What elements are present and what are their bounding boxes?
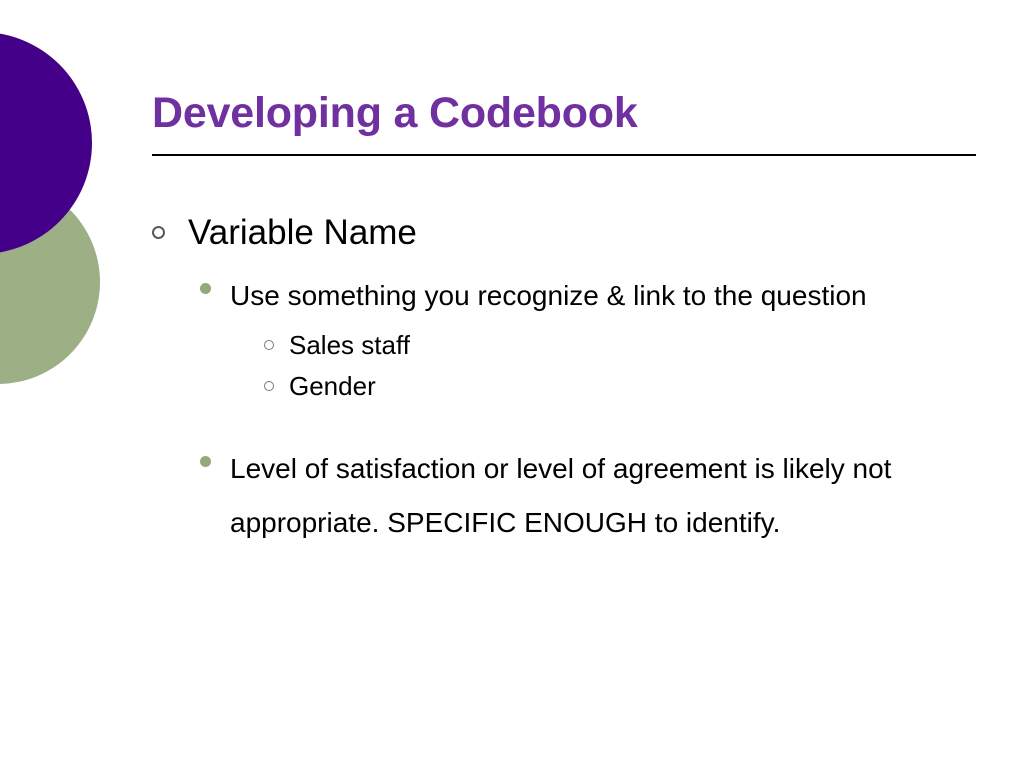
list-item-level3-label: Gender bbox=[289, 370, 376, 403]
list-item-level2-second-label: Level of satisfaction or level of agreem… bbox=[230, 442, 954, 550]
decorative-purple-circle bbox=[0, 32, 92, 254]
list-item-level3: Sales staff bbox=[264, 329, 982, 362]
list-item-level3-label: Sales staff bbox=[289, 329, 410, 362]
slide-canvas: Developing a Codebook Variable Name Use … bbox=[0, 0, 1024, 768]
list-item-level2-first: Use something you recognize & link to th… bbox=[200, 269, 982, 323]
body-content: Variable Name Use something you recogniz… bbox=[152, 212, 982, 554]
small-hollow-circle-bullet-icon bbox=[264, 329, 289, 350]
filled-circle-bullet-icon bbox=[200, 442, 230, 467]
list-item-level2-second: Level of satisfaction or level of agreem… bbox=[200, 442, 982, 550]
list-item-level1: Variable Name bbox=[152, 212, 982, 253]
content-spacer bbox=[152, 420, 982, 442]
list-item-level1-label: Variable Name bbox=[188, 212, 417, 253]
page-title: Developing a Codebook bbox=[152, 92, 976, 135]
title-divider bbox=[152, 154, 976, 156]
filled-circle-bullet-icon bbox=[200, 269, 230, 294]
list-item-level3: Gender bbox=[264, 370, 982, 403]
list-level3-group: Sales staff Gender bbox=[264, 329, 982, 402]
decorative-green-circle bbox=[0, 180, 100, 384]
list-item-level2-first-label: Use something you recognize & link to th… bbox=[230, 269, 867, 323]
small-hollow-circle-bullet-icon bbox=[264, 370, 289, 391]
title-block: Developing a Codebook bbox=[152, 92, 976, 156]
hollow-circle-bullet-icon bbox=[152, 212, 188, 239]
